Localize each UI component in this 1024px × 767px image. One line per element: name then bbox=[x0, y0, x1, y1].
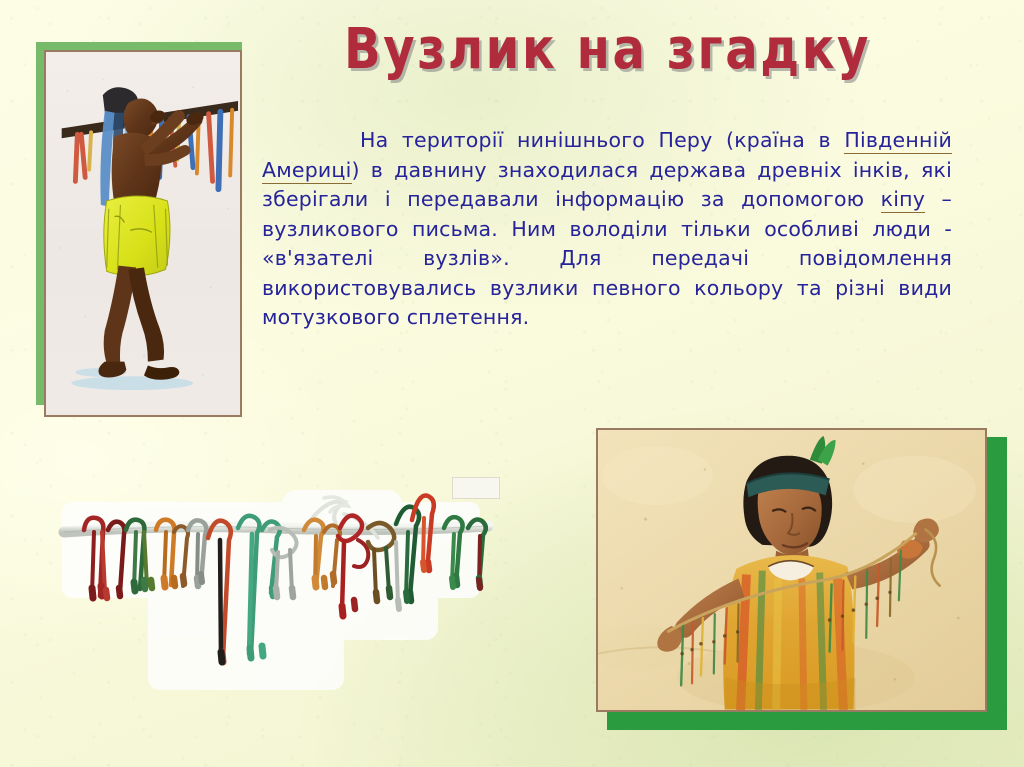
image-quipu-knotted-cords bbox=[56, 480, 496, 695]
image-inca-messenger-illustration bbox=[44, 50, 242, 417]
body-paragraph: На території нинішнього Перу (країна в П… bbox=[262, 126, 952, 333]
presentation-slide: Вузлик на згадку На території нинішнього… bbox=[0, 0, 1024, 767]
inca-messenger-artwork bbox=[46, 52, 240, 412]
page-title: Вузлик на згадку bbox=[344, 22, 774, 78]
body-text-run-1: На території нинішнього Перу (країна в bbox=[360, 128, 844, 152]
image-inca-quipu-keeper bbox=[596, 428, 987, 712]
inca-quipu-keeper-artwork bbox=[598, 430, 985, 711]
link-quipu[interactable]: кіпу bbox=[881, 187, 925, 213]
body-text-run-2: ) в давнину знаходилася держава древніх … bbox=[262, 158, 952, 212]
quipu-artwork bbox=[56, 480, 496, 695]
quipu-blank-label-chip bbox=[452, 477, 500, 499]
